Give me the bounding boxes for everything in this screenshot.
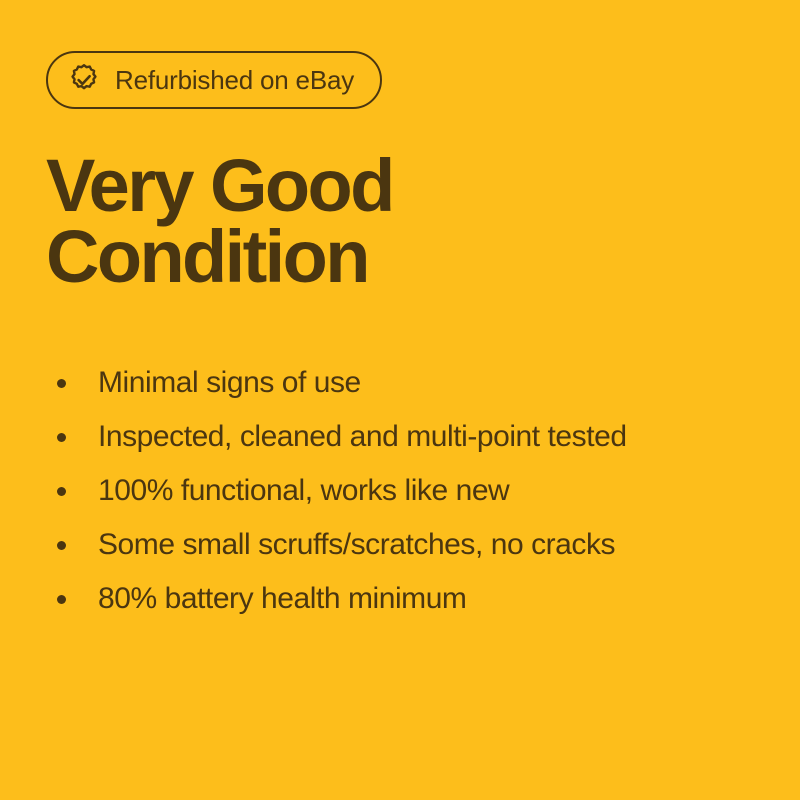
page-title: Very Good Condition bbox=[46, 150, 393, 292]
list-item-label: Inspected, cleaned and multi-point teste… bbox=[98, 420, 627, 454]
refurbished-badge: Refurbished on eBay bbox=[46, 51, 382, 109]
verified-seal-check-icon bbox=[67, 63, 101, 97]
list-item: Inspected, cleaned and multi-point teste… bbox=[48, 420, 627, 474]
list-item: 100% functional, works like new bbox=[48, 474, 627, 528]
bullet-dot-icon bbox=[57, 595, 66, 604]
list-item: Minimal signs of use bbox=[48, 366, 627, 420]
list-item-label: Some small scruffs/scratches, no cracks bbox=[98, 528, 615, 562]
refurbished-condition-card: Refurbished on eBay Very Good Condition … bbox=[0, 0, 800, 800]
list-item-label: 80% battery health minimum bbox=[98, 582, 466, 616]
bullet-dot-icon bbox=[57, 379, 66, 388]
bullet-dot-icon bbox=[57, 433, 66, 442]
condition-feature-list: Minimal signs of use Inspected, cleaned … bbox=[48, 366, 627, 636]
list-item: 80% battery health minimum bbox=[48, 582, 627, 636]
bullet-dot-icon bbox=[57, 541, 66, 550]
bullet-dot-icon bbox=[57, 487, 66, 496]
list-item: Some small scruffs/scratches, no cracks bbox=[48, 528, 627, 582]
list-item-label: 100% functional, works like new bbox=[98, 474, 509, 508]
refurbished-badge-label: Refurbished on eBay bbox=[115, 67, 354, 93]
list-item-label: Minimal signs of use bbox=[98, 366, 361, 400]
